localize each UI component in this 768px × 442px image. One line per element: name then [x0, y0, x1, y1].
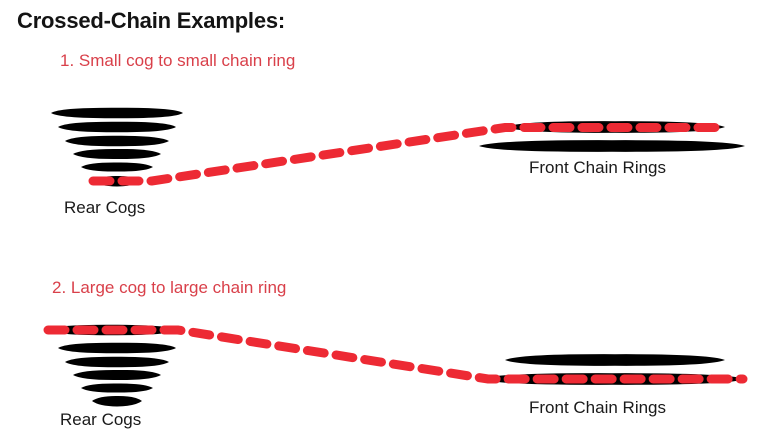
rear-cog-6-smallest: [92, 396, 142, 407]
rear-cog-1-largest: [51, 108, 183, 118]
rear-cog-3: [65, 357, 169, 367]
rear-cog-stack-2: [46, 325, 178, 407]
diagram-canvas: Crossed-Chain Examples:: [0, 0, 768, 442]
example-2-front-chain-rings-label: Front Chain Rings: [529, 398, 666, 418]
example-2-rear-cogs-label: Rear Cogs: [60, 410, 141, 430]
rear-cog-5: [81, 383, 153, 392]
example-1-rear-cogs-label: Rear Cogs: [64, 198, 145, 218]
front-chain-ring-small-inner: [505, 354, 725, 366]
rear-cog-4: [73, 370, 161, 380]
front-chain-ring-large-outer: [479, 140, 745, 152]
example-2-label: 2. Large cog to large chain ring: [52, 278, 286, 298]
rear-cog-3: [65, 136, 169, 146]
example-2-graphics: [46, 325, 745, 407]
rear-cog-2: [58, 122, 176, 132]
example-1-label: 1. Small cog to small chain ring: [60, 51, 295, 71]
example-1-front-chain-rings-label: Front Chain Rings: [529, 158, 666, 178]
rear-cog-2: [58, 343, 176, 353]
rear-cog-stack-1: [51, 108, 183, 187]
rear-cog-4: [73, 149, 161, 159]
rear-cog-5: [81, 162, 153, 171]
